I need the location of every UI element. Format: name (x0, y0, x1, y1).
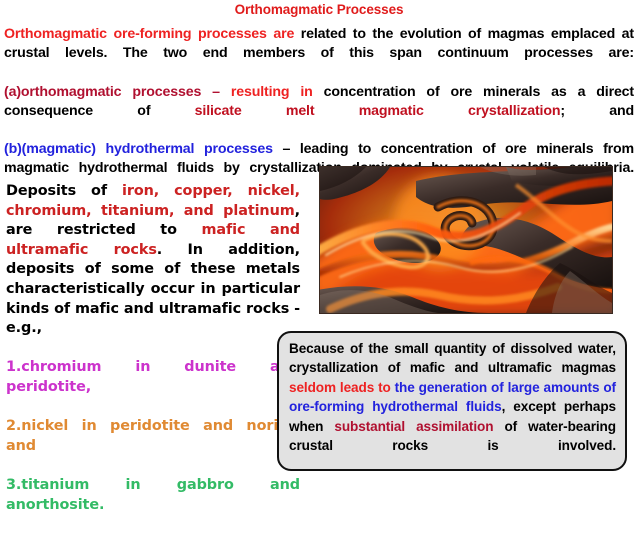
lava-illustration (320, 167, 612, 313)
intro-p1-lead: Orthomagmatic ore-forming processes are (4, 26, 294, 42)
left-seg-1: Deposits of (6, 183, 122, 199)
callout-paragraph: Because of the small quantity of dissolv… (289, 339, 616, 475)
intro-p2-label: (a)orthomagmatic processes – (4, 84, 231, 100)
callout-seg-assimilation: substantial assimilation (334, 419, 493, 434)
list-item-nickel: 2.nickel in peridotite and norite, and (6, 417, 300, 476)
molten-lava-flow-photo (320, 167, 612, 313)
slide-canvas: Orthomagmatic Processes Orthomagmatic or… (0, 0, 638, 478)
intro-paragraph-2: (a)orthomagmatic processes – resulting i… (4, 83, 634, 141)
left-column-text: Deposits of iron, copper, nickel, chromi… (6, 182, 300, 535)
intro-p2-phrase-2: silicate melt magmatic crystallization (195, 103, 561, 119)
callout-seg-seldom: seldom leads to (289, 380, 391, 395)
intro-paragraph-1: Orthomagmatic ore-forming processes are … (4, 25, 634, 83)
intro-p2-tail: ; and (560, 103, 634, 119)
callout-seg-1: Because of the small quantity of dissolv… (289, 341, 616, 375)
left-body-paragraph: Deposits of iron, copper, nickel, chromi… (6, 182, 300, 358)
list-item-chromium: 1.chromium in dunite and peridotite, (6, 358, 300, 417)
list-item-titanium: 3.titanium in gabbro and anorthosite. (6, 476, 300, 535)
callout-box: Because of the small quantity of dissolv… (277, 331, 627, 471)
intro-p3-label: (b)(magmatic) hydrothermal processes (4, 141, 273, 157)
intro-p2-phrase-1: resulting in (231, 84, 313, 100)
page-title: Orthomagmatic Processes (0, 1, 638, 18)
